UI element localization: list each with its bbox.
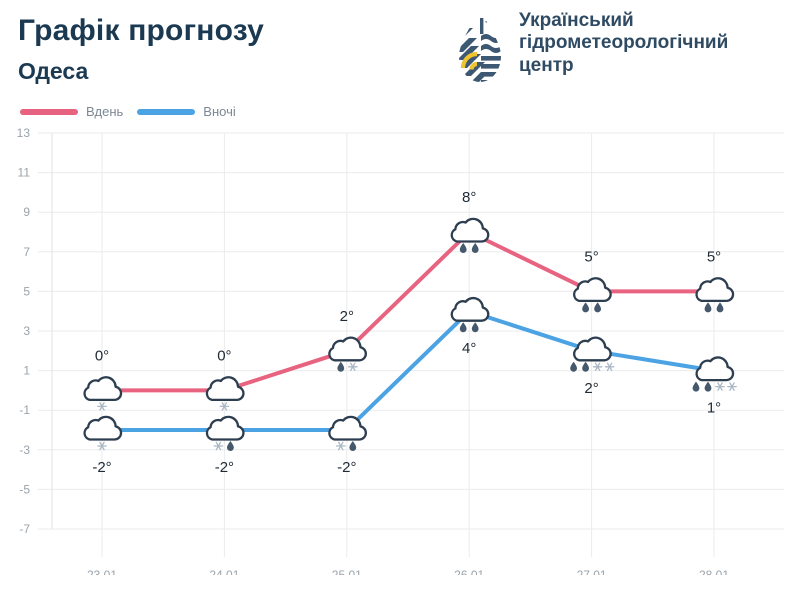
forecast-chart-page: Графік прогнозу Одеса [0, 0, 800, 610]
y-axis-tick-label: -3 [19, 443, 30, 457]
raindrop-icon [582, 302, 589, 312]
snowflake-icon [728, 383, 736, 390]
logo-line-3: центр [519, 55, 728, 77]
data-point-label: 5° [707, 248, 721, 265]
raindrop-icon [460, 243, 467, 253]
x-axis-tick-label: 24.01 [209, 568, 239, 575]
cloud-icon [697, 357, 734, 380]
y-axis-tick-label: -1 [19, 403, 30, 417]
y-axis-tick-label: -7 [19, 522, 30, 536]
raindrop-icon [472, 322, 479, 332]
data-point-label: 0° [95, 347, 109, 364]
data-point-label: 5° [584, 248, 598, 265]
y-axis-tick-label: 9 [23, 205, 30, 219]
series-line-Вдень [102, 232, 714, 390]
raindrop-icon [472, 243, 479, 253]
logo-line-1: Український [519, 10, 728, 32]
data-point-label: 0° [217, 347, 231, 364]
y-axis-tick-label: 5 [23, 284, 30, 298]
snowflake-icon [716, 383, 724, 390]
raindrop-icon [460, 322, 467, 332]
cloud-icon [85, 417, 122, 440]
legend-label-day: Вдень [86, 104, 123, 119]
snowflake-icon [214, 442, 222, 449]
raindrop-icon [349, 441, 356, 451]
raindrop-icon [570, 362, 577, 372]
data-point-label: -2° [92, 459, 111, 476]
snowflake-icon [337, 442, 345, 449]
cloud-icon [697, 278, 734, 301]
data-point-label: 1° [707, 400, 721, 417]
data-point-label: -2° [215, 459, 234, 476]
raindrop-icon [582, 362, 589, 372]
raindrop-icon [693, 382, 700, 392]
legend-label-night: Вночі [203, 104, 235, 119]
raindrop-icon [717, 302, 724, 312]
y-axis-tick-label: -5 [19, 482, 30, 496]
cloud-icon [329, 338, 366, 361]
x-axis-tick-label: 23.01 [87, 568, 117, 575]
raindrop-icon [594, 302, 601, 312]
y-axis-tick-label: 13 [17, 126, 31, 140]
data-point-label: 8° [462, 189, 476, 206]
cloud-icon [207, 377, 244, 400]
cloud-icon [452, 298, 489, 321]
logo-line-2: гідрометеорологічний [519, 32, 728, 54]
page-title: Графік прогнозу [18, 14, 264, 48]
snowflake-icon [349, 363, 357, 370]
x-axis-tick-label: 28.01 [699, 568, 729, 575]
data-point-label: 2° [584, 380, 598, 397]
legend-item-night[interactable]: Вночі [137, 104, 235, 119]
data-point-label: 4° [462, 340, 476, 357]
y-axis-tick-label: 1 [23, 364, 30, 378]
legend-item-day[interactable]: Вдень [20, 104, 123, 119]
x-axis-tick-label: 27.01 [577, 568, 607, 575]
temperature-line-chart: 131197531-1-3-5-723.0124.0125.0126.0127.… [0, 125, 800, 575]
raindrop-icon [705, 302, 712, 312]
x-axis-tick-label: 25.01 [332, 568, 362, 575]
data-point-label: -2° [337, 459, 356, 476]
data-point-label: 2° [340, 308, 354, 325]
cloud-icon [574, 278, 611, 301]
organization-name: Український гідрометеорологічний центр [519, 10, 728, 77]
snowflake-icon [605, 363, 613, 370]
snowflake-icon [593, 363, 601, 370]
raindrop-icon [705, 382, 712, 392]
city-name: Одеса [18, 58, 88, 85]
cloud-icon [452, 219, 489, 242]
cloud-icon [85, 377, 122, 400]
cloud-icon [574, 338, 611, 361]
y-axis-tick-label: 3 [23, 324, 30, 338]
water-droplet-logo-icon [455, 10, 505, 86]
legend-swatch-night [137, 109, 195, 115]
legend-swatch-day [20, 109, 78, 115]
cloud-icon [207, 417, 244, 440]
chart-legend: Вдень Вночі [20, 104, 236, 119]
raindrop-icon [337, 362, 344, 372]
y-axis-tick-label: 11 [18, 166, 31, 180]
y-axis-tick-label: 7 [23, 245, 30, 259]
cloud-icon [329, 417, 366, 440]
x-axis-tick-label: 26.01 [454, 568, 484, 575]
raindrop-icon [227, 441, 234, 451]
organization-logo: Український гідрометеорологічний центр [455, 10, 728, 86]
